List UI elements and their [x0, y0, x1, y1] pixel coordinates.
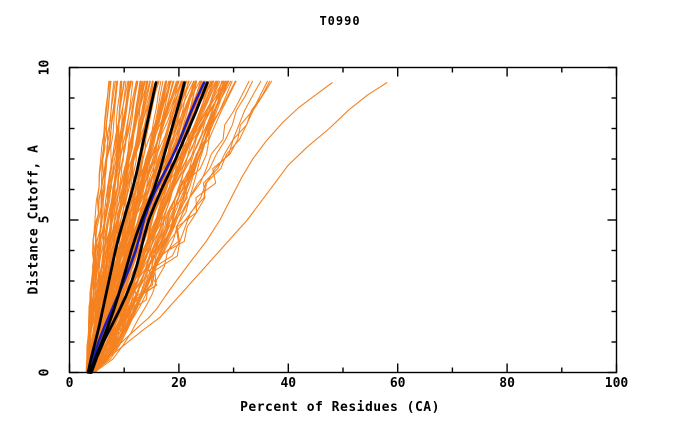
x-axis-label: Percent of Residues (CA): [0, 400, 680, 415]
y-tick-label: 0: [37, 357, 52, 387]
orange-curve-bundle: [86, 81, 272, 372]
x-tick-label: 20: [159, 376, 199, 391]
chart-root: T0990 Percent of Residues (CA) Distance …: [0, 0, 680, 440]
x-tick-label: 80: [487, 376, 527, 391]
y-tick-label: 10: [37, 52, 52, 82]
x-tick-label: 40: [268, 376, 308, 391]
x-tick-label: 100: [597, 376, 637, 391]
plot-area: [0, 0, 680, 440]
x-tick-label: 0: [50, 376, 90, 391]
y-tick-label: 5: [37, 205, 52, 235]
x-tick-label: 60: [378, 376, 418, 391]
